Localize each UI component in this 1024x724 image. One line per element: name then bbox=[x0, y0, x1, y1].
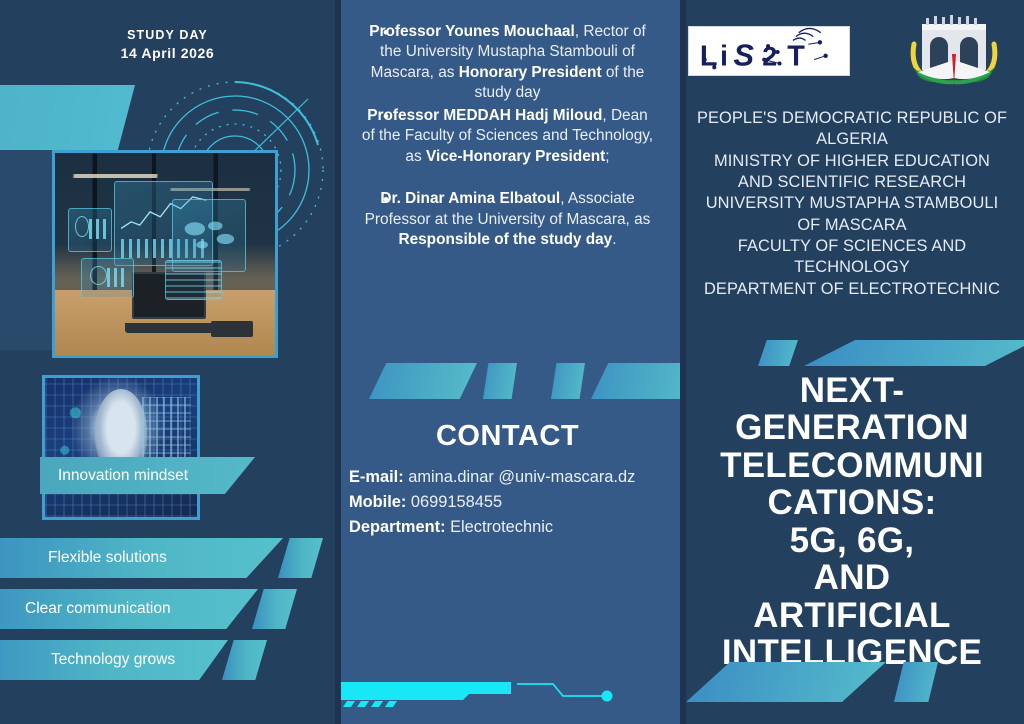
speaker-item: Professor Younes Mouchaal, Rector of the… bbox=[355, 22, 660, 104]
institution-line: PEOPLE'S DEMOCRATIC REPUBLIC OF bbox=[684, 108, 1020, 129]
speaker-name: Dr. Dinar Amina Elbatoul bbox=[380, 190, 560, 207]
pgram-2 bbox=[483, 363, 517, 399]
institution-line: FACULTY OF SCIENCES AND bbox=[684, 236, 1020, 257]
speakers-list: Professor Younes Mouchaal, Rector of the… bbox=[355, 22, 660, 251]
ribbon-flexible-solutions: Flexible solutions bbox=[0, 538, 283, 578]
speaker-name: Professor MEDDAH Hadj Miloud bbox=[367, 107, 602, 124]
title-top-decoration bbox=[680, 340, 1024, 366]
contact-value[interactable]: Electrotechnic bbox=[446, 518, 554, 536]
ribbon-technology-grows-tail bbox=[222, 640, 267, 680]
page-title: NEXT-GENERATIONTELECOMMUNICATIONS:5G, 6G… bbox=[680, 372, 1024, 672]
middle-parallelogram-decoration bbox=[335, 363, 680, 399]
study-day-header: STUDY DAY 14 April 2026 bbox=[0, 28, 335, 61]
study-day-label: STUDY DAY bbox=[0, 28, 335, 42]
contact-row: Department: Electrotechnic bbox=[349, 515, 679, 540]
contact-row: E-mail: amina.dinar @univ-mascara.dz bbox=[349, 465, 679, 490]
speaker-name: Responsible of the study day bbox=[398, 231, 612, 248]
speaker-name: Honorary President bbox=[459, 64, 602, 81]
page-title-line: AND bbox=[680, 559, 1024, 596]
algeria-ministry-emblem-logo bbox=[902, 10, 1006, 88]
brochure-page: STUDY DAY 14 April 2026 bbox=[0, 0, 1024, 724]
svg-text:S: S bbox=[733, 37, 754, 72]
middle-panel: Professor Younes Mouchaal, Rector of the… bbox=[335, 0, 680, 724]
speakers-section: Professor Younes Mouchaal, Rector of the… bbox=[355, 22, 660, 253]
speaker-item: Professor MEDDAH Hadj Miloud, Dean of th… bbox=[355, 106, 660, 167]
contact-row: Mobile: 0699158455 bbox=[349, 490, 679, 515]
page-title-line: ARTIFICIAL bbox=[680, 597, 1024, 634]
page-title-line: 5G, 6G, bbox=[680, 522, 1024, 559]
title-pgram-d bbox=[894, 662, 938, 702]
speaker-name: Vice-Honorary President bbox=[426, 148, 605, 165]
contact-value[interactable]: amina.dinar @univ-mascara.dz bbox=[404, 468, 636, 486]
ribbon-flexible-solutions-tail bbox=[278, 538, 323, 578]
panel-edge-divider bbox=[335, 0, 341, 724]
left-panel: STUDY DAY 14 April 2026 bbox=[0, 0, 335, 724]
page-title-line: NEXT- bbox=[680, 372, 1024, 409]
contact-label: Mobile: bbox=[349, 493, 406, 511]
ribbon-label: Flexible solutions bbox=[48, 549, 167, 567]
ribbon-technology-grows: Technology grows bbox=[0, 640, 228, 680]
lis2t-laboratory-logo: L i S 2 T bbox=[688, 26, 850, 76]
title-bottom-decoration bbox=[680, 662, 1024, 702]
title-pgram-a bbox=[758, 340, 798, 366]
speaker-role: . bbox=[612, 231, 616, 248]
ribbon-label: Technology grows bbox=[51, 651, 175, 669]
contact-label: E-mail: bbox=[349, 468, 404, 486]
pgram-1 bbox=[369, 363, 477, 399]
blue-wedge-decoration bbox=[0, 150, 60, 350]
ribbon-label: Clear communication bbox=[25, 600, 171, 618]
speaker-name: Professor Younes Mouchaal bbox=[369, 23, 575, 40]
contact-heading: CONTACT bbox=[335, 420, 680, 453]
ribbon-clear-communication: Clear communication bbox=[0, 589, 258, 629]
page-title-line: GENERATION bbox=[680, 409, 1024, 446]
ribbon-label: Innovation mindset bbox=[58, 467, 188, 485]
institution-line: DEPARTMENT OF ELECTROTECHNIC bbox=[684, 279, 1020, 300]
title-pgram-c bbox=[686, 662, 886, 702]
title-pgram-b bbox=[804, 340, 1024, 366]
page-title-line: CATIONS: bbox=[680, 484, 1024, 521]
right-panel: L i S 2 T bbox=[680, 0, 1024, 724]
svg-text:i: i bbox=[720, 40, 728, 72]
logo-row: L i S 2 T bbox=[680, 8, 1024, 90]
institution-lines: PEOPLE'S DEMOCRATIC REPUBLIC OFALGERIAMI… bbox=[684, 108, 1020, 300]
page-title-line: TELECOMMUNI bbox=[680, 447, 1024, 484]
institution-line: ALGERIA bbox=[684, 129, 1020, 150]
institution-line: OF MASCARA bbox=[684, 215, 1020, 236]
pgram-4 bbox=[591, 363, 680, 399]
office-holographic-dashboard-photo bbox=[52, 150, 278, 358]
institution-line: TECHNOLOGY bbox=[684, 257, 1020, 278]
pgram-3 bbox=[551, 363, 585, 399]
institution-line: UNIVERSITY MUSTAPHA STAMBOULI bbox=[684, 193, 1020, 214]
hud-bottom-decoration-icon bbox=[341, 674, 621, 708]
institution-line: AND SCIENTIFIC RESEARCH bbox=[684, 172, 1020, 193]
contact-value[interactable]: 0699158455 bbox=[406, 493, 502, 511]
study-day-date: 14 April 2026 bbox=[0, 45, 335, 61]
ai-face-circuit-photo bbox=[42, 375, 200, 520]
svg-text:L: L bbox=[700, 40, 720, 72]
speaker-role: ; bbox=[605, 148, 609, 165]
ribbon-innovation-mindset: Innovation mindset bbox=[40, 457, 255, 494]
svg-text:T: T bbox=[787, 40, 805, 72]
ribbon-clear-communication-tail bbox=[252, 589, 297, 629]
institution-line: MINISTRY OF HIGHER EDUCATION bbox=[684, 151, 1020, 172]
contact-details-list: E-mail: amina.dinar @univ-mascara.dzMobi… bbox=[349, 465, 679, 540]
speaker-item: Dr. Dinar Amina Elbatoul, Associate Prof… bbox=[355, 189, 660, 250]
contact-label: Department: bbox=[349, 518, 446, 536]
